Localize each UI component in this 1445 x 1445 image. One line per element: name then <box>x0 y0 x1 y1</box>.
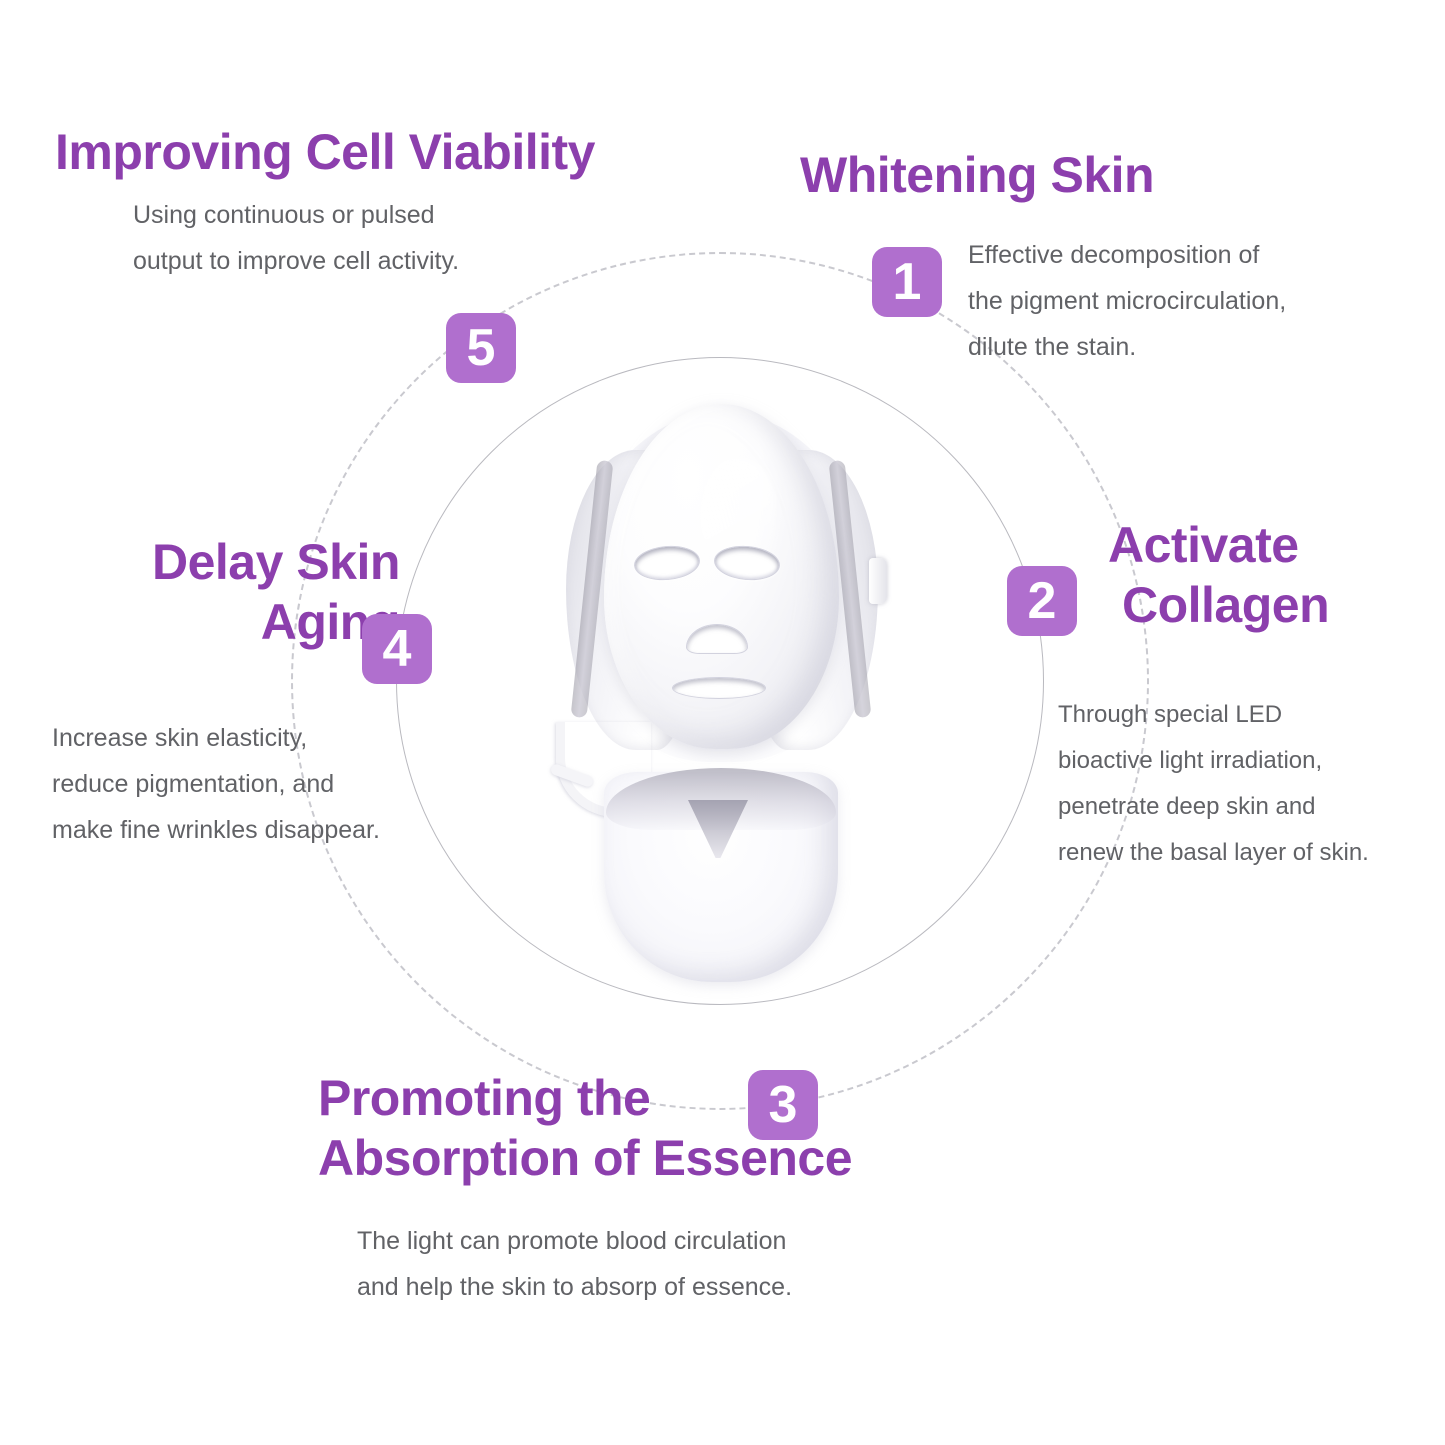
feature-2-line-2: bioactive light irradiation, <box>1058 738 1369 784</box>
feature-4-line-3: make fine wrinkles disappear. <box>52 807 380 853</box>
feature-5-line-2: output to improve cell activity. <box>133 238 459 284</box>
feature-2-line-4: renew the basal layer of skin. <box>1058 830 1369 876</box>
feature-2-title-line-2: Collagen <box>1122 575 1329 635</box>
product-image-led-mask <box>520 372 920 992</box>
feature-1-line-3: dilute the stain. <box>968 324 1286 370</box>
feature-5-title: Improving Cell Viability <box>55 122 595 182</box>
feature-2-line-1: Through special LED <box>1058 692 1369 738</box>
feature-4-line-2: reduce pigmentation, and <box>52 761 380 807</box>
feature-2-number-badge: 2 <box>1007 566 1077 636</box>
feature-3-description: The light can promote blood circulation … <box>357 1218 792 1310</box>
feature-1-number-badge: 1 <box>872 247 942 317</box>
mask-side-knob <box>869 558 887 604</box>
feature-1-line-2: the pigment microcirculation, <box>968 278 1286 324</box>
feature-5-number-badge: 5 <box>446 313 516 383</box>
feature-3-line-1: The light can promote blood circulation <box>357 1218 792 1264</box>
feature-2-description: Through special LED bioactive light irra… <box>1058 692 1369 876</box>
feature-4-number-badge: 4 <box>362 614 432 684</box>
feature-2-title: Activate Collagen <box>1108 515 1329 635</box>
feature-1-title: Whitening Skin <box>800 145 1154 205</box>
feature-2-title-line-1: Activate <box>1108 517 1299 573</box>
feature-1-description: Effective decomposition of the pigment m… <box>968 232 1286 370</box>
feature-4-description: Increase skin elasticity, reduce pigment… <box>52 715 380 853</box>
feature-4-line-1: Increase skin elasticity, <box>52 715 380 761</box>
feature-4-title-line-1: Delay Skin <box>152 534 400 590</box>
feature-3-number-badge: 3 <box>748 1070 818 1140</box>
feature-3-line-2: and help the skin to absorp of essence. <box>357 1264 792 1310</box>
feature-5-line-1: Using continuous or pulsed <box>133 192 459 238</box>
feature-1-line-1: Effective decomposition of <box>968 232 1286 278</box>
feature-2-line-3: penetrate deep skin and <box>1058 784 1369 830</box>
feature-5-description: Using continuous or pulsed output to imp… <box>133 192 459 284</box>
feature-3-title-line-1: Promoting the <box>318 1070 650 1126</box>
feature-infographic: Improving Cell Viability Using continuou… <box>0 0 1445 1445</box>
mask-mouth-opening <box>672 677 766 699</box>
